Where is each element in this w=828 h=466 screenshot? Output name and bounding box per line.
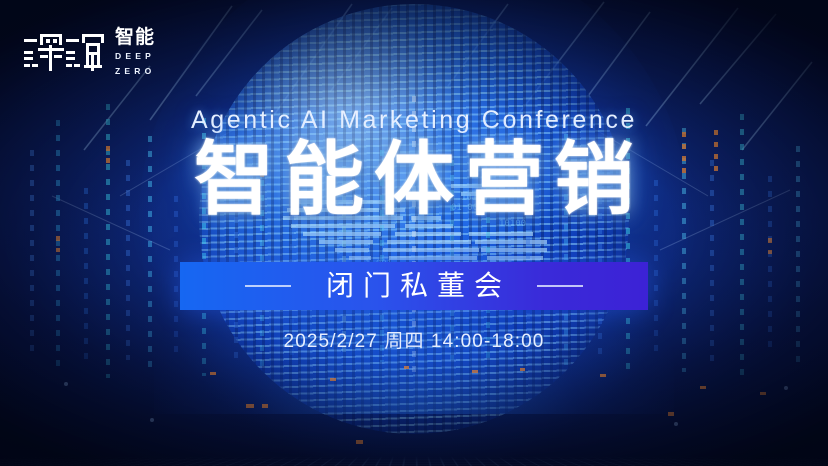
conference-eyebrow: Agentic AI Marketing Conference (0, 108, 828, 133)
subtitle-text: 闭门私董会 (317, 272, 511, 300)
logo-text-block: 智能 DEEP ZERO (115, 28, 155, 78)
subtitle-band: 闭门私董会 (180, 262, 648, 310)
logo-en-line2: ZERO (115, 65, 155, 77)
page-title: 智能体营销 (0, 140, 828, 220)
logo-cn-name: 智能 (115, 28, 155, 47)
band-rule-left (245, 285, 291, 287)
deepzero-logo-mark (22, 31, 106, 75)
band-rule-right (537, 285, 583, 287)
brand-logo[interactable]: 智能 DEEP ZERO (22, 28, 155, 78)
logo-en-line1: DEEP (115, 50, 155, 62)
event-datetime: 2025/2/27 周四 14:00-18:00 (0, 332, 828, 351)
conference-poster: 0000 1 001 0 10100 01 0000 10100 10100 (0, 0, 828, 466)
